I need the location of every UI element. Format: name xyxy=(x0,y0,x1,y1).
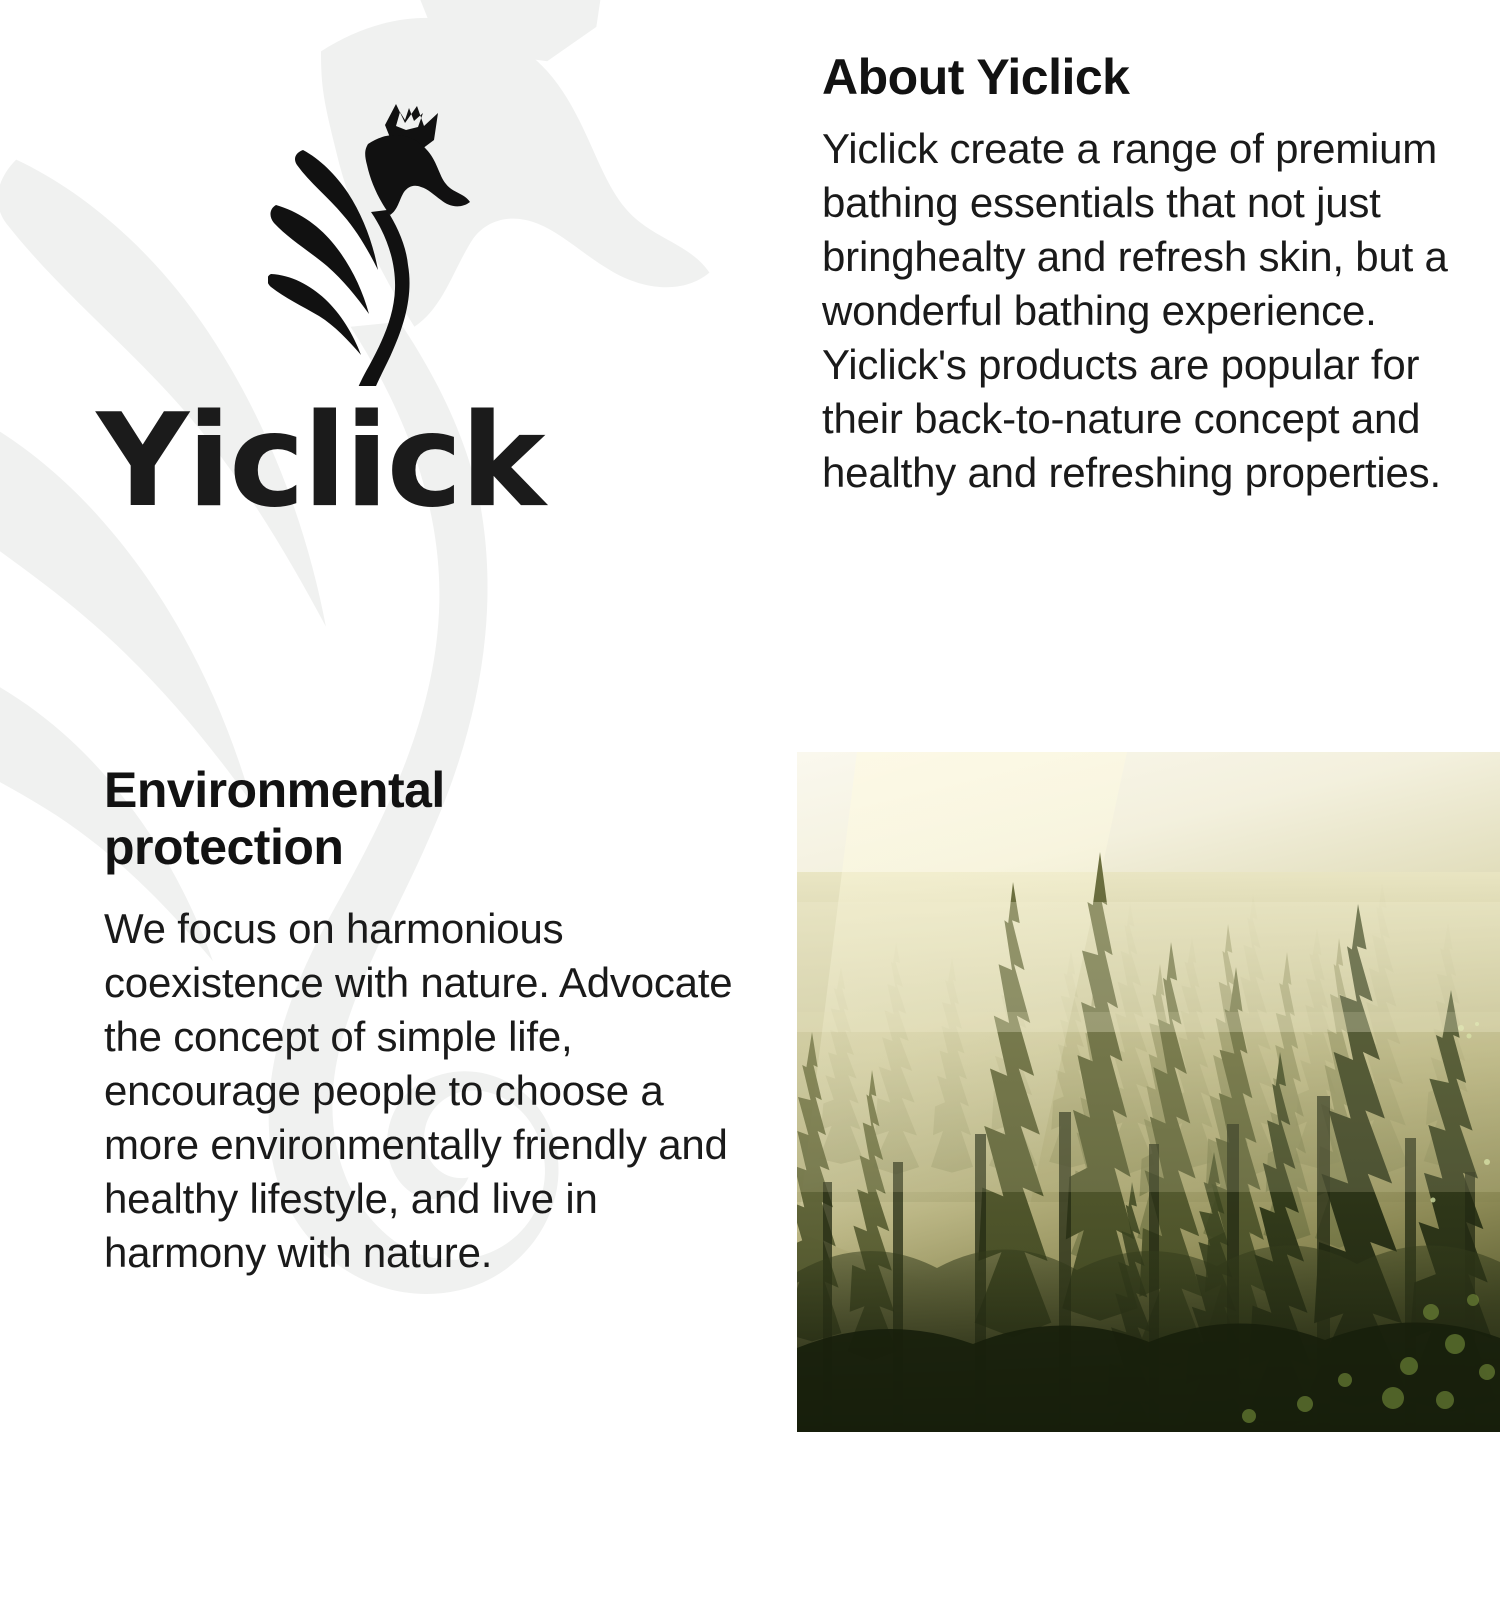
brand-logo-block: Yiclick xyxy=(0,0,790,745)
forest-photo xyxy=(797,752,1500,1432)
about-section: About Yiclick Yiclick create a range of … xyxy=(822,50,1494,500)
environmental-protection-heading: Environmental protection xyxy=(104,762,574,876)
about-heading: About Yiclick xyxy=(822,50,1494,104)
about-paragraph: Yiclick create a range of premium bathin… xyxy=(822,122,1494,500)
brand-wordmark: Yiclick xyxy=(0,398,790,526)
brand-story-page: Yiclick About Yiclick Yiclick create a r… xyxy=(0,0,1500,1487)
environmental-protection-section: Environmental protection We focus on har… xyxy=(104,762,744,1280)
environmental-protection-paragraph: We focus on harmonious coexistence with … xyxy=(104,902,744,1280)
crowned-seahorse-icon xyxy=(268,98,516,386)
